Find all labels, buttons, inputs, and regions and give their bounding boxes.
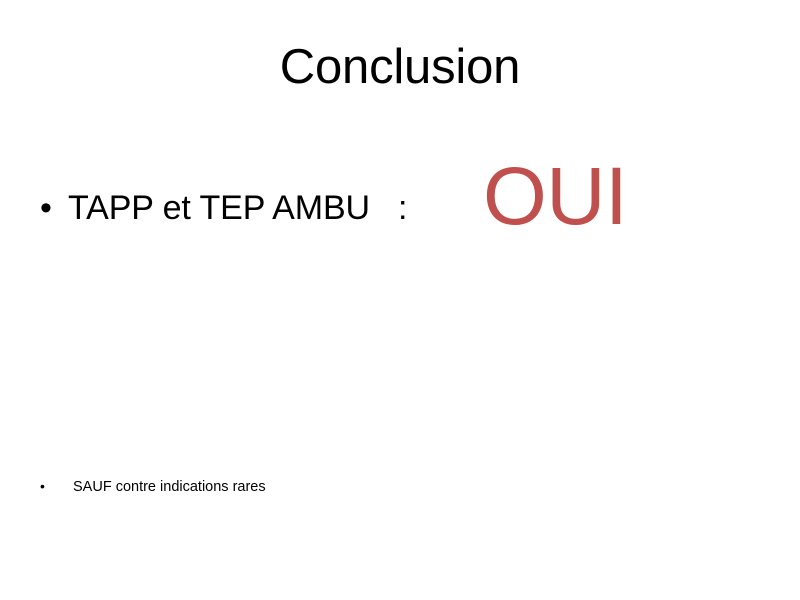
bullet-text-primary: TAPP et TEP AMBU : [68, 186, 407, 230]
slide-canvas: Conclusion • TAPP et TEP AMBU : OUI • SA… [0, 0, 800, 600]
emphasis-answer-oui: OUI [483, 153, 627, 241]
list-item: • TAPP et TEP AMBU : [40, 186, 780, 230]
bullet-text-secondary: SAUF contre indications rares [73, 477, 266, 497]
slide-body: • TAPP et TEP AMBU : OUI • SAUF contre i… [0, 0, 800, 600]
bullet-marker-icon: • [40, 186, 68, 230]
list-item: • SAUF contre indications rares [40, 476, 780, 497]
bullet-marker-icon: • [40, 476, 73, 496]
